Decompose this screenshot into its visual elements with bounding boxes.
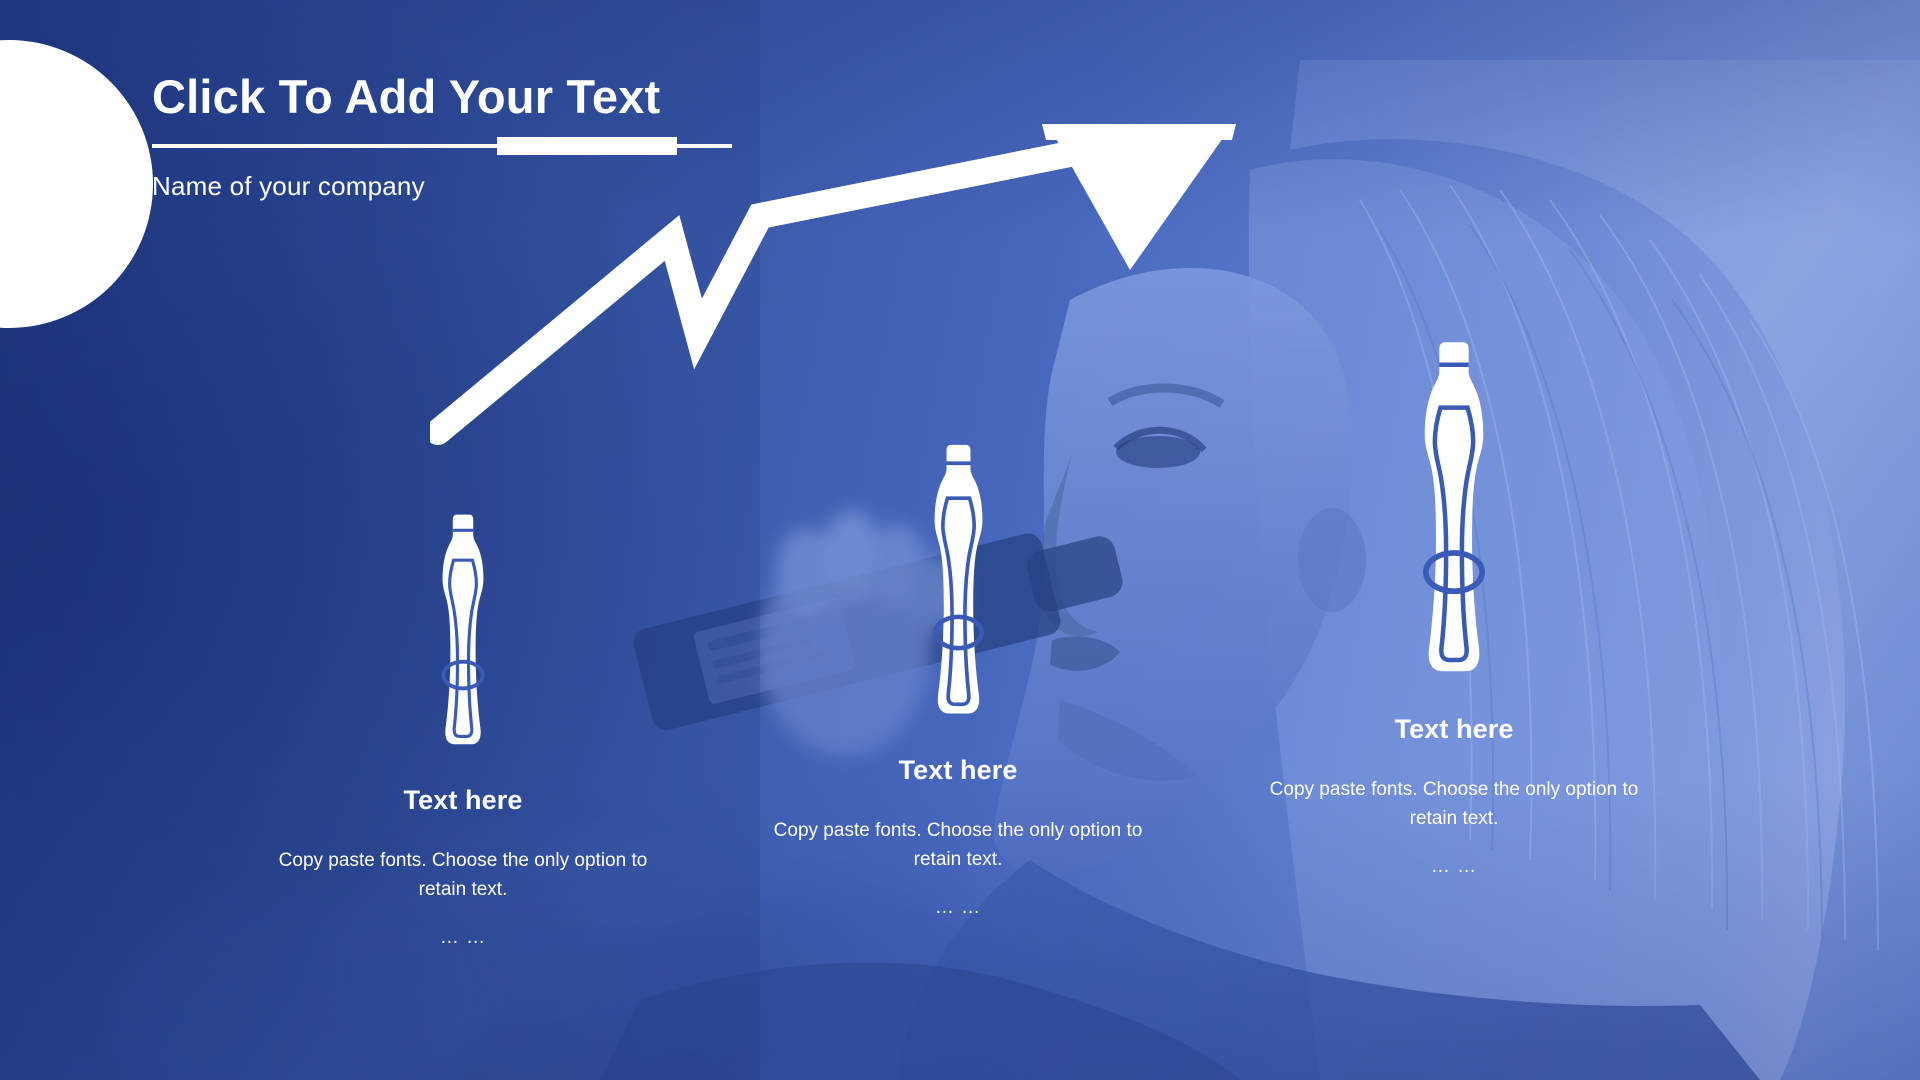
page-title: Click To Add Your Text <box>152 72 912 123</box>
column-1: Text here Copy paste fonts. Choose the o… <box>253 513 673 949</box>
bottle-icon <box>415 513 511 749</box>
slide-canvas: Click To Add Your Text Name of your comp… <box>0 0 1920 1080</box>
column-body: Copy paste fonts. Choose the only option… <box>263 846 663 905</box>
column-ellipsis: … … <box>253 927 673 949</box>
column-heading: Text here <box>253 785 673 816</box>
column-heading: Text here <box>748 755 1168 786</box>
column-ellipsis: … … <box>748 897 1168 919</box>
bottle-icon <box>1385 340 1523 678</box>
column-body: Copy paste fonts. Choose the only option… <box>758 816 1158 875</box>
column-2: Text here Copy paste fonts. Choose the o… <box>748 443 1168 919</box>
column-heading: Text here <box>1244 714 1664 745</box>
column-3: Text here Copy paste fonts. Choose the o… <box>1244 340 1664 878</box>
bottle-icon <box>902 443 1015 719</box>
column-body: Copy paste fonts. Choose the only option… <box>1254 775 1654 834</box>
column-ellipsis: … … <box>1244 856 1664 878</box>
